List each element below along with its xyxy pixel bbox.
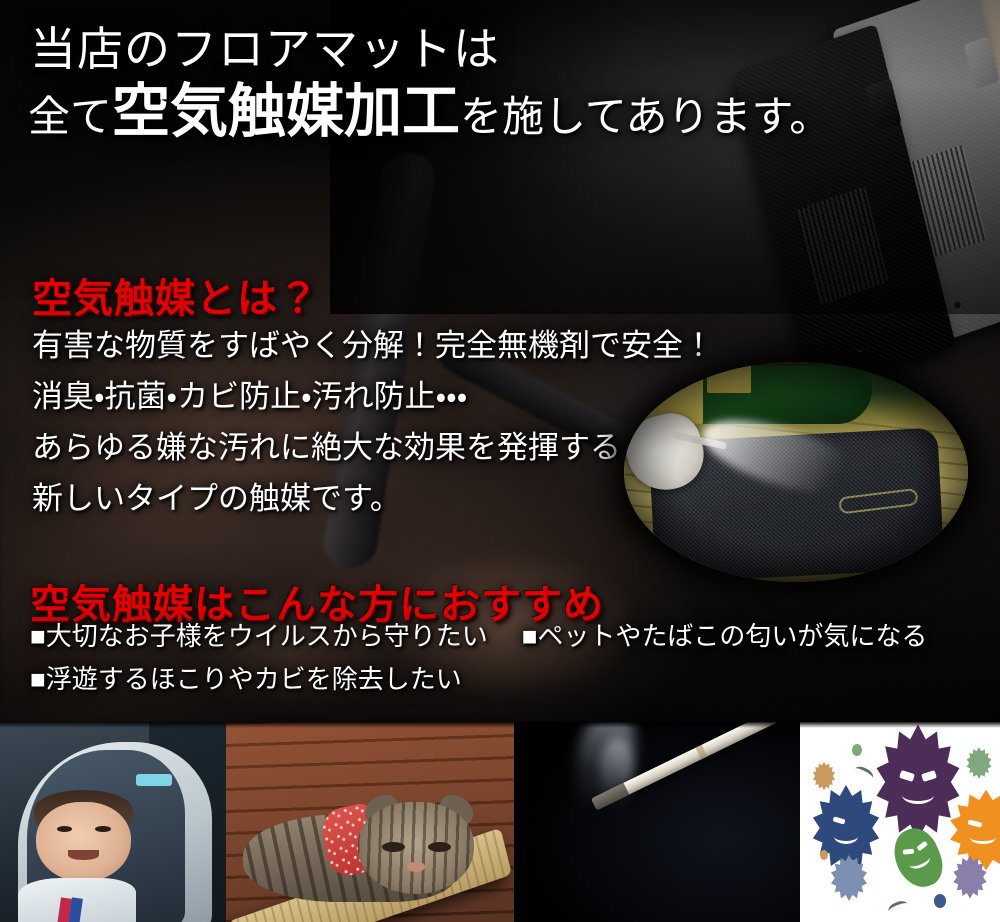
bullet-row: ■浮遊するほこりやカビを除去したい (30, 665, 970, 696)
title-line-2-emphasis: 空気触媒加工 (112, 79, 460, 144)
catalyst-spray-photo (624, 362, 968, 582)
photo-baby-in-car-seat (0, 722, 226, 922)
title-line-2: 全て空気触媒加工を施してあります。 (28, 81, 1000, 144)
germ-dot-tan-small (820, 850, 828, 860)
cat-nose (407, 862, 424, 872)
germ-bacteria-green (886, 822, 949, 894)
baby-face (36, 802, 131, 882)
title-line-1: 当店のフロアマットは (30, 26, 1000, 75)
cat-head (358, 802, 473, 894)
cigarette-band (695, 745, 707, 760)
photo-germ-illustration (800, 722, 1000, 922)
cat-eye-left (382, 842, 405, 852)
recommendation-bullet-list: ■大切なお子様をウイルスから守りたい ■ペットやたばこの匂いが気になる ■浮遊す… (30, 622, 970, 707)
bullet-row: ■大切なお子様をウイルスから守りたい ■ペットやたばこの匂いが気になる (30, 622, 970, 653)
photo-cat (226, 722, 514, 922)
seat-label (136, 774, 172, 786)
spray-photo-vignette (624, 362, 968, 582)
what-is-body-text: 有害な物質をすばやく分解！完全無機剤で安全！ 消臭・抗菌・カビ防止・汚れ防止・・… (32, 330, 714, 534)
bottom-photo-strip (0, 722, 1000, 922)
germ-dot-tan (816, 766, 832, 786)
germ-squiggle-bottom (887, 899, 910, 917)
germ-virus-lilac (958, 862, 982, 892)
banner-title-block: 当店のフロアマットは 全て空気触媒加工を施してあります。 (0, 0, 1000, 143)
body-line: 有害な物質をすばやく分解！完全無機剤で安全！ (32, 330, 714, 361)
cat-eye-right (428, 842, 451, 852)
germ-virus-blue (822, 798, 870, 858)
germ-virus-purple (888, 742, 948, 822)
body-line: あらゆる嫌な汚れに絶大な効果を発揮する (32, 432, 714, 463)
advertisement-banner: 当店のフロアマットは 全て空気触媒加工を施してあります。 空気触媒とは？ 有害な… (0, 0, 1000, 922)
germ-dot-navy (934, 894, 946, 908)
title-line-2-suffix: を施してあります。 (460, 95, 831, 141)
photo-cigarette (514, 722, 800, 922)
title-line-2-prefix: 全て (28, 95, 112, 141)
germ-virus-orange (960, 802, 1000, 858)
germ-squiggle-top (853, 764, 876, 783)
body-line: 消臭・抗菌・カビ防止・汚れ防止・・・ (32, 381, 714, 412)
germ-dot-green (970, 752, 988, 774)
body-line: 新しいタイプの触媒です。 (32, 483, 714, 514)
bullet-item: ■浮遊するほこりやカビを除去したい (30, 665, 462, 696)
germ-virus-slate (836, 862, 862, 894)
bullet-item: ■ペットやたばこの匂いが気になる (522, 622, 928, 653)
heading-what-is-air-catalyst: 空気触媒とは？ (32, 266, 319, 324)
germ-dot-sage (852, 744, 862, 756)
bullet-item: ■大切なお子様をウイルスから守りたい (30, 622, 488, 653)
